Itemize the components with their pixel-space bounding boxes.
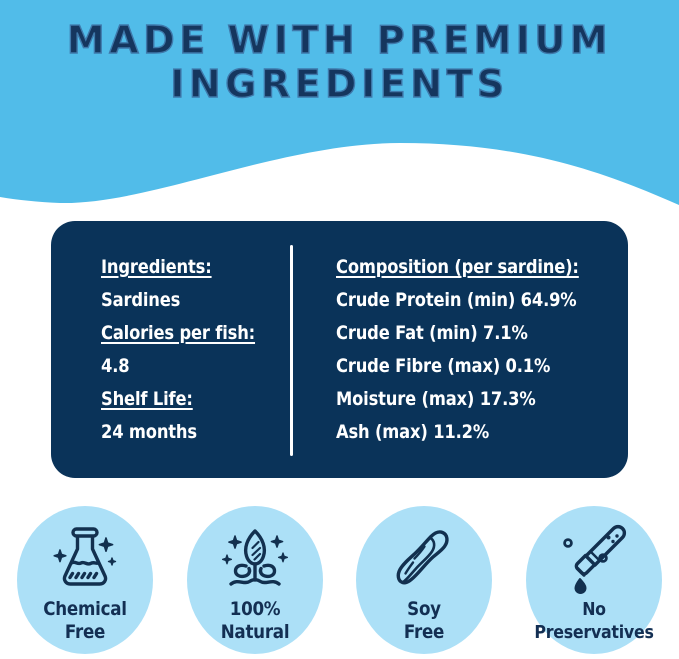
badge-no-preservatives[interactable]: No Preservatives [521,506,667,659]
badge-label-line-1: 100% [191,598,319,621]
badge-label-line-2: Free [21,621,149,644]
page-title: MADE WITH PREMIUM MADE WITH PREMIUM INGR… [0,18,679,106]
badge-soy-free[interactable]: Soy Free [351,506,497,659]
badge-label-line-1: Soy [360,598,488,621]
panel-column-divider [290,245,293,456]
ingredients-column: Ingredients: Sardines Calories per fish:… [51,221,291,449]
flask-sparkle-icon [46,522,124,594]
badge-label: Soy Free [351,598,497,644]
badge-label-line-2: Free [360,621,488,644]
calories-value: 4.8 [101,350,264,383]
calories-heading: Calories per fish: [101,317,264,350]
composition-column: Composition (per sardine): Crude Protein… [291,221,628,449]
feature-badge-row: Chemical Free 100% Natural [0,506,679,659]
composition-crude-protein: Crude Protein (min) 64.9% [336,284,587,317]
composition-ash: Ash (max) 11.2% [336,416,587,449]
page-title-line-1: MADE WITH PREMIUM MADE WITH PREMIUM [0,18,679,62]
dropper-droplet-icon [555,522,633,594]
ingredients-heading: Ingredients: [101,251,264,284]
badge-label-line-2: Preservatives [530,621,658,644]
soybean-pod-icon [385,522,463,594]
page-title-line-2-text: INGREDIENTS [170,62,509,106]
header-banner: MADE WITH PREMIUM MADE WITH PREMIUM INGR… [0,0,679,215]
composition-moisture: Moisture (max) 17.3% [336,383,587,416]
page-title-line-1-text: MADE WITH PREMIUM [67,18,612,62]
ingredients-value: Sardines [101,284,264,317]
badge-label: No Preservatives [521,598,667,644]
composition-heading: Composition (per sardine): [336,251,587,284]
composition-crude-fibre: Crude Fibre (max) 0.1% [336,350,587,383]
shelf-life-heading: Shelf Life: [101,383,264,416]
badge-label-line-1: No [530,598,658,621]
shelf-life-value: 24 months [101,416,264,449]
composition-crude-fat: Crude Fat (min) 7.1% [336,317,587,350]
badge-chemical-free[interactable]: Chemical Free [12,506,158,659]
badge-label: Chemical Free [12,598,158,644]
page-title-line-2: INGREDIENTS INGREDIENTS [0,62,679,106]
nutrition-info-panel: Ingredients: Sardines Calories per fish:… [51,221,628,478]
badge-label-line-2: Natural [191,621,319,644]
badge-label: 100% Natural [182,598,328,644]
badge-100-natural[interactable]: 100% Natural [182,506,328,659]
badge-label-line-1: Chemical [21,598,149,621]
sprout-sparkle-icon [216,522,294,594]
